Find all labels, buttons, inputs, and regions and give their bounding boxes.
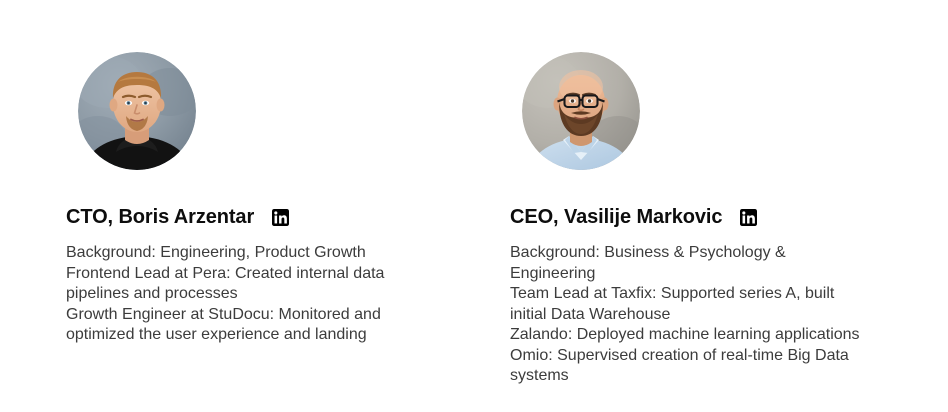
team-profiles-section: CTO, Boris Arzentar Background: Engineer…: [0, 0, 948, 412]
bio-line: Frontend Lead at Pera: Created internal …: [66, 264, 411, 305]
avatar: [522, 52, 640, 170]
bio-line: Omio: Supervised creation of real-time B…: [510, 346, 860, 387]
avatar: [78, 52, 196, 170]
bio-line: Growth Engineer at StuDocu: Monitored an…: [66, 305, 411, 346]
headshot-boris-arzentar: [78, 52, 196, 170]
linkedin-icon[interactable]: [740, 209, 757, 226]
profile-heading: CEO, Vasilije Markovic: [510, 204, 888, 230]
profile-bio: Background: Engineering, Product Growth …: [66, 243, 411, 346]
profile-card-cto: CTO, Boris Arzentar Background: Engineer…: [0, 52, 444, 412]
profile-bio: Background: Business & Psychology & Engi…: [510, 243, 860, 387]
bio-line: Background: Engineering, Product Growth: [66, 243, 411, 264]
profile-card-ceo: CEO, Vasilije Markovic Background: Busin…: [444, 52, 888, 412]
bio-line: Background: Business & Psychology & Engi…: [510, 243, 860, 284]
bio-line: Team Lead at Taxfix: Supported series A,…: [510, 284, 860, 325]
profile-name: CTO, Boris Arzentar: [66, 206, 254, 229]
profile-heading: CTO, Boris Arzentar: [66, 204, 444, 230]
linkedin-icon[interactable]: [272, 209, 289, 226]
bio-line: Zalando: Deployed machine learning appli…: [510, 325, 860, 346]
profile-name: CEO, Vasilije Markovic: [510, 206, 722, 229]
headshot-vasilije-markovic: [522, 52, 640, 170]
